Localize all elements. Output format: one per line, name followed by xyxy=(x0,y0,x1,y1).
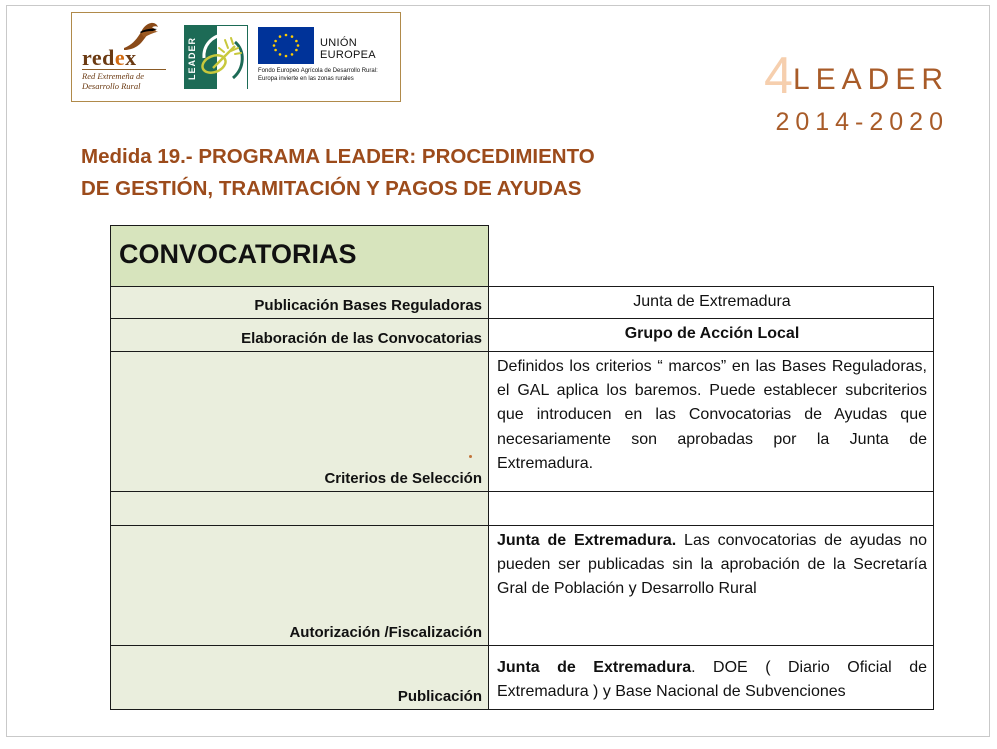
page-title-line1: Medida 19.- PROGRAMA LEADER: PROCEDIMIEN… xyxy=(81,141,721,173)
row-value: Definidos los criterios “ marcos” en las… xyxy=(489,351,934,491)
row-label: Publicación xyxy=(111,645,489,709)
row-value-emphasis: Junta de Extremadura xyxy=(497,659,691,676)
row-label: Publicación Bases Reguladoras xyxy=(111,287,489,319)
table-row: Autorización /Fiscalización Junta de Ext… xyxy=(111,525,934,645)
row-label: Elaboración de las Convocatorias xyxy=(111,319,489,351)
artifact-speck xyxy=(469,455,472,458)
row-label: Criterios de Selección xyxy=(111,351,489,491)
brand-four: 4 xyxy=(764,47,793,105)
leader-brand: 4LEADER 2014-2020 xyxy=(764,50,949,137)
table-row: Elaboración de las Convocatorias Grupo d… xyxy=(111,319,934,351)
row-value: Grupo de Acción Local xyxy=(489,319,934,351)
brand-years: 2014-2020 xyxy=(764,108,949,137)
row-label xyxy=(111,491,489,525)
table-row-empty xyxy=(111,491,934,525)
row-value: Junta de Extremadura xyxy=(489,287,934,319)
eu-subtitle: Fondo Europeo Agrícola de Desarrollo Rur… xyxy=(258,67,398,83)
table-row: Publicación Bases Reguladoras Junta de E… xyxy=(111,287,934,319)
convocatorias-table: CONVOCATORIAS Publicación Bases Regulado… xyxy=(110,225,934,710)
redex-logo: redex Red Extremeña de Desarrollo Rural xyxy=(78,19,178,95)
eu-label: UNIÓN EUROPEA xyxy=(320,37,398,61)
table-row: Criterios de Selección Definidos los cri… xyxy=(111,351,934,491)
redex-divider xyxy=(82,69,166,70)
leader-emblem-icon xyxy=(195,28,247,88)
table-header-cell: CONVOCATORIAS xyxy=(111,226,489,287)
page-title-line2: DE GESTIÓN, TRAMITACIÓN Y PAGOS DE AYUDA… xyxy=(81,173,721,205)
redex-wordmark: redex xyxy=(82,47,137,69)
page-title: Medida 19.- PROGRAMA LEADER: PROCEDIMIEN… xyxy=(81,141,721,205)
row-value-emphasis: Junta de Extremadura. xyxy=(497,532,676,549)
leader-logo-icon: LEADER xyxy=(184,25,248,89)
row-value: Junta de Extremadura. Las convocatorias … xyxy=(489,525,934,645)
row-value: Junta de Extremadura. DOE ( Diario Ofici… xyxy=(489,645,934,709)
eu-logo: UNIÓN EUROPEA Fondo Europeo Agrícola de … xyxy=(258,25,398,89)
brand-leader: LEADER xyxy=(793,63,949,96)
eu-flag-icon xyxy=(258,27,314,64)
logo-strip: redex Red Extremeña de Desarrollo Rural … xyxy=(71,12,401,102)
slide-canvas: redex Red Extremeña de Desarrollo Rural … xyxy=(6,5,990,737)
row-label: Autorización /Fiscalización xyxy=(111,525,489,645)
table-row: Publicación Junta de Extremadura. DOE ( … xyxy=(111,645,934,709)
redex-subtitle: Red Extremeña de Desarrollo Rural xyxy=(82,71,174,91)
row-value xyxy=(489,491,934,525)
table-header-spacer xyxy=(489,226,934,287)
table-header-row: CONVOCATORIAS xyxy=(111,226,934,287)
